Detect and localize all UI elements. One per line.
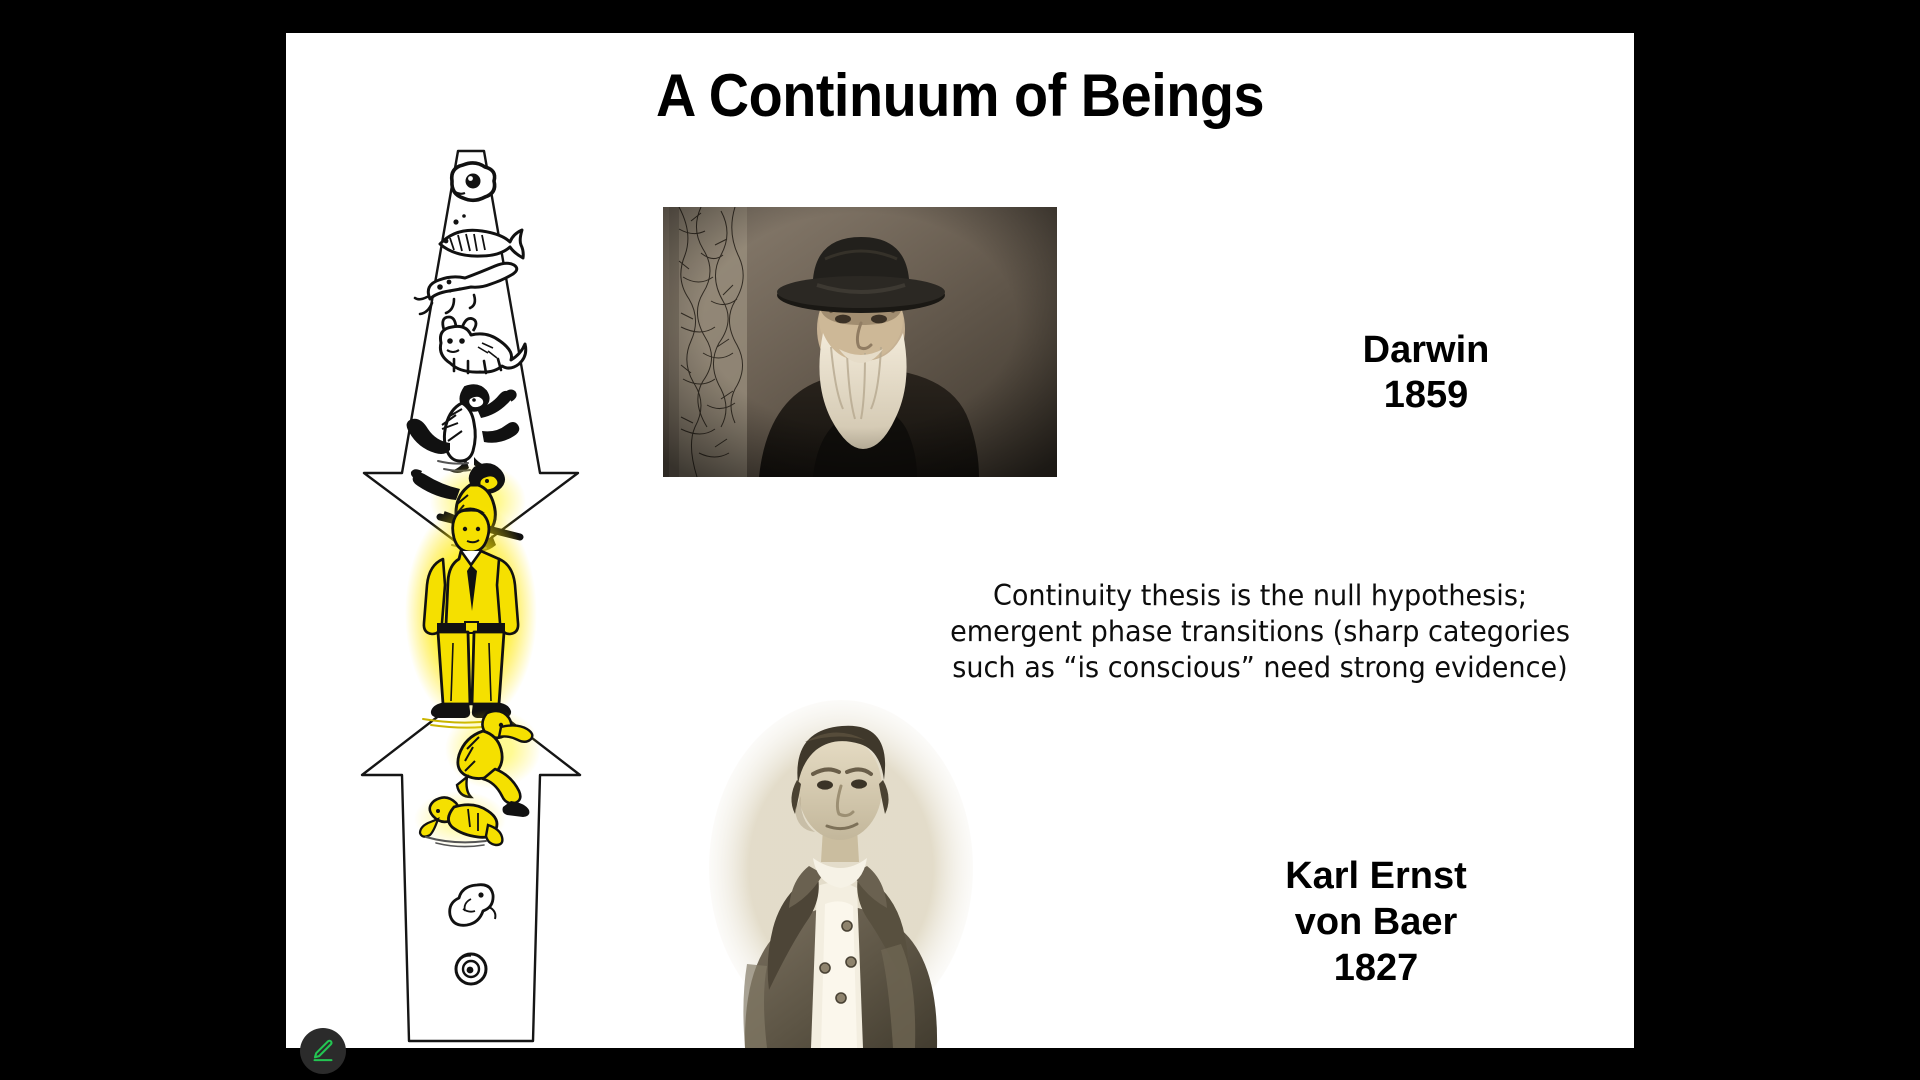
von-baer-name-line1: Karl Ernst xyxy=(1216,853,1536,899)
annotate-pencil-button[interactable] xyxy=(300,1028,346,1074)
slide-canvas: A Continuum of Beings xyxy=(286,33,1634,1048)
stage-fertilized-egg xyxy=(456,954,486,984)
pencil-edit-icon xyxy=(310,1038,336,1064)
darwin-year: 1859 xyxy=(1286,373,1566,418)
von-baer-year: 1827 xyxy=(1216,945,1536,991)
darwin-name: Darwin xyxy=(1286,328,1566,373)
stage-crawling-baby xyxy=(414,791,506,847)
stage-adult-human xyxy=(405,501,537,728)
von-baer-name-line2: von Baer xyxy=(1216,899,1536,945)
von-baer-portrait-image xyxy=(701,668,981,1048)
stage-single-cell-organism xyxy=(452,163,495,200)
von-baer-caption: Karl Ernst von Baer 1827 xyxy=(1216,853,1536,991)
darwin-portrait-image xyxy=(663,207,1057,477)
presentation-viewer: A Continuum of Beings xyxy=(0,0,1920,1080)
page-title: A Continuum of Beings xyxy=(333,61,1587,130)
thesis-paragraph: Continuity thesis is the null hypothesis… xyxy=(905,578,1616,686)
darwin-caption: Darwin 1859 xyxy=(1286,328,1566,418)
continuum-diagram xyxy=(308,143,638,1048)
